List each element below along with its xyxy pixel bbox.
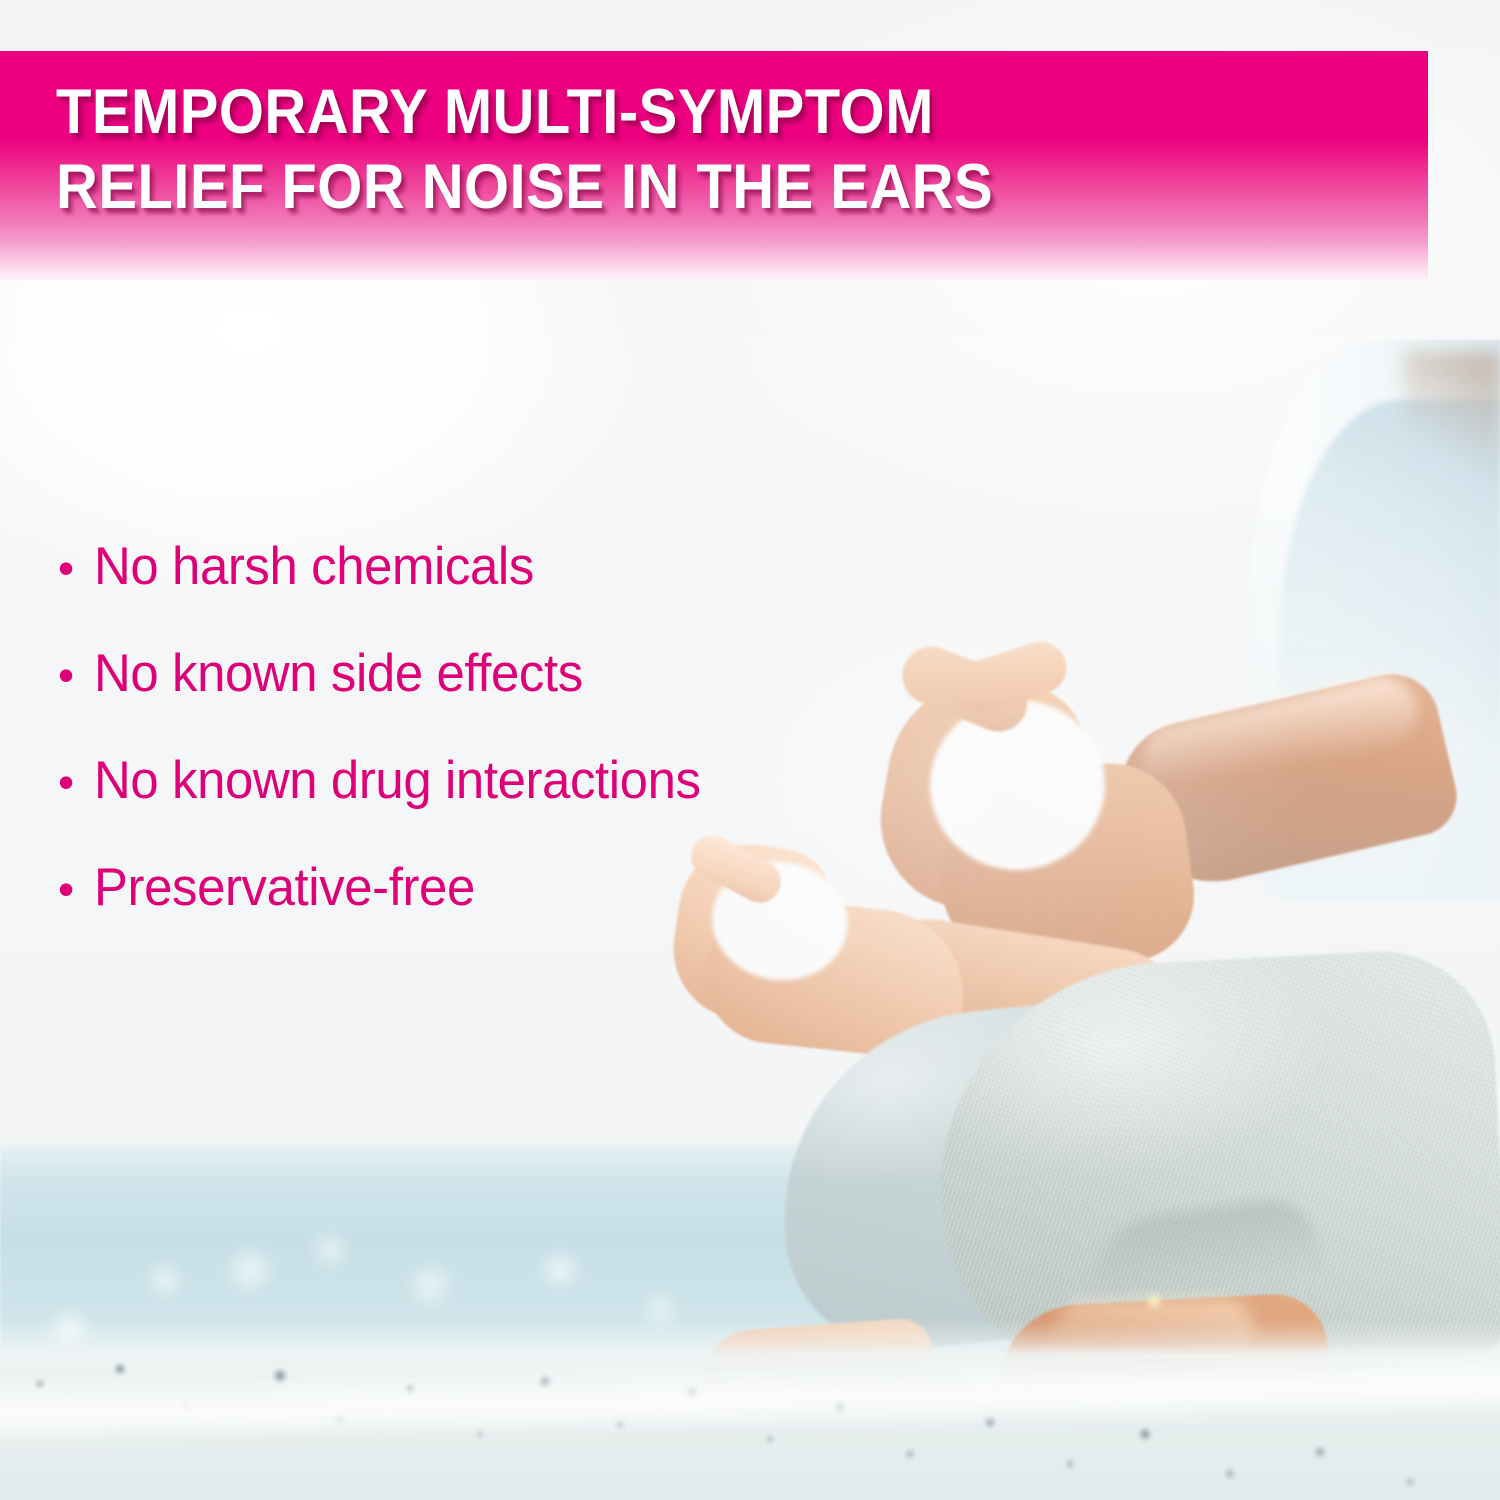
bullet-point-icon: • (58, 652, 94, 698)
benefit-label: No known side effects (94, 647, 583, 700)
bullet-point-icon: • (58, 759, 94, 805)
benefits-list: • No harsh chemicals • No known side eff… (58, 540, 878, 968)
benefit-label: No harsh chemicals (94, 540, 534, 593)
list-item: • No known drug interactions (58, 754, 878, 861)
bullet-point-icon: • (58, 545, 94, 591)
list-item: • Preservative-free (58, 861, 878, 968)
headline-banner: Temporary Multi-Symptom Relief for Noise… (0, 51, 1428, 280)
headline-text: Temporary Multi-Symptom Relief for Noise… (56, 75, 1289, 225)
product-feature-image: Temporary Multi-Symptom Relief for Noise… (0, 0, 1500, 1500)
sun-glint (1143, 1292, 1165, 1310)
list-item: • No known side effects (58, 647, 878, 754)
bullet-point-icon: • (58, 866, 94, 912)
list-item: • No harsh chemicals (58, 540, 878, 647)
benefit-label: Preservative-free (94, 861, 475, 914)
benefit-label: No known drug interactions (94, 754, 701, 807)
